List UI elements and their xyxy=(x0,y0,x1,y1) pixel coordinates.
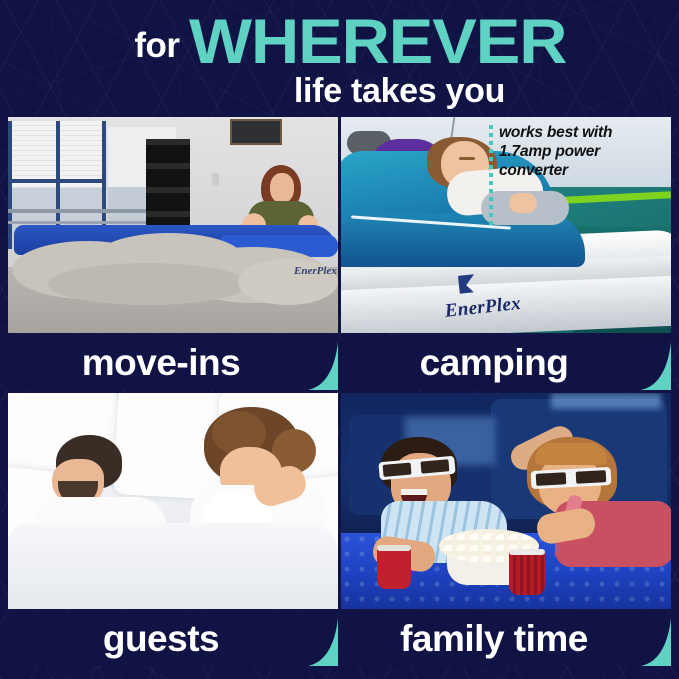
teal-accent-shape xyxy=(641,342,671,390)
scene-move-ins: EnerPlex xyxy=(8,117,338,333)
person-face xyxy=(270,173,294,203)
headline-hero-word: WHEREVER xyxy=(189,6,566,78)
photo-camping: EnerPlex works best with 1.7amp power co… xyxy=(341,117,671,333)
person-eye xyxy=(459,157,475,160)
window-frame xyxy=(10,179,106,183)
panel-camping: EnerPlex works best with 1.7amp power co… xyxy=(341,117,671,390)
callout-note-line-3: converter xyxy=(499,161,665,180)
duvet xyxy=(8,523,338,609)
panel-caption-family-time: family time xyxy=(400,618,588,660)
panel-move-ins: EnerPlex move-ins xyxy=(8,117,338,390)
callout-note-line-2: 1.7amp power xyxy=(499,142,665,161)
callout-note: works best with 1.7amp power converter xyxy=(499,123,665,180)
panel-family-time: family time xyxy=(341,393,671,666)
headline-row: forWHEREVER xyxy=(0,6,679,78)
light-switch xyxy=(212,173,219,186)
product-brand-logo: EnerPlex xyxy=(294,265,334,277)
headline-kicker: for xyxy=(134,26,179,66)
label-bar-family-time: family time xyxy=(341,611,671,666)
boy-teeth xyxy=(401,489,427,495)
header: forWHEREVER life takes you xyxy=(0,0,679,117)
photo-family-time xyxy=(341,393,671,609)
red-cup xyxy=(377,545,411,589)
headline-subline: life takes you xyxy=(0,72,679,111)
person-hand xyxy=(509,193,537,213)
infographic-canvas: forWHEREVER life takes you xyxy=(0,0,679,679)
panel-caption-camping: camping xyxy=(420,342,569,384)
scene-camping: EnerPlex works best with 1.7amp power co… xyxy=(341,117,671,333)
panel-caption-guests: guests xyxy=(103,618,219,660)
callout-note-line-1: works best with xyxy=(499,123,665,142)
screen-glow xyxy=(551,393,661,409)
callout-dotted-line xyxy=(489,125,493,229)
teal-accent-shape xyxy=(641,618,671,666)
photo-guests xyxy=(8,393,338,609)
panel-guests: guests xyxy=(8,393,338,666)
teal-accent-shape xyxy=(308,342,338,390)
panel-caption-move-ins: move-ins xyxy=(82,342,240,384)
wall-picture xyxy=(230,119,282,145)
teal-accent-shape xyxy=(308,618,338,666)
photo-move-ins: EnerPlex xyxy=(8,117,338,333)
label-bar-guests: guests xyxy=(8,611,338,666)
deflated-cover xyxy=(8,229,338,309)
label-bar-camping: camping xyxy=(341,335,671,390)
scene-family-time xyxy=(341,393,671,609)
scene-guests xyxy=(8,393,338,609)
label-bar-move-ins: move-ins xyxy=(8,335,338,390)
brand-mark-icon xyxy=(458,276,474,293)
girl-fringe xyxy=(535,443,607,465)
red-cup xyxy=(509,549,545,595)
